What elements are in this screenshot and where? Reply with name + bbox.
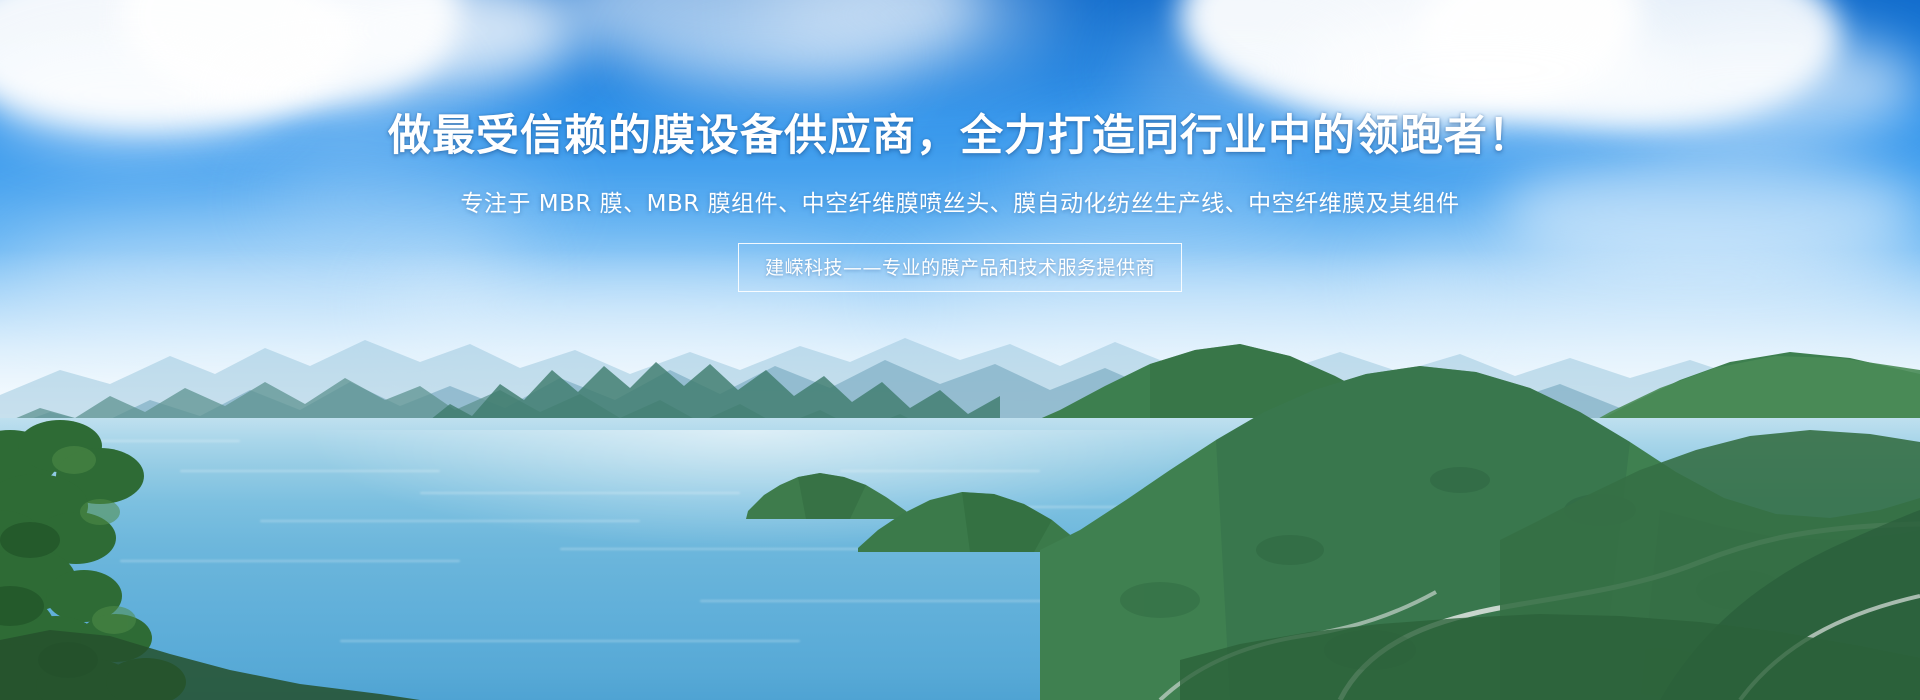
foreground-shore-left — [0, 600, 420, 700]
banner-tagline-wrapper: 建嵘科技——专业的膜产品和技术服务提供商 — [0, 243, 1920, 292]
banner-headline: 做最受信赖的膜设备供应商，全力打造同行业中的领跑者！ — [0, 101, 1920, 163]
banner-subline: 专注于 MBR 膜、MBR 膜组件、中空纤维膜喷丝头、膜自动化纺丝生产线、中空纤… — [0, 184, 1920, 218]
foreground-forest-bottom — [1180, 560, 1920, 700]
banner-tagline-box: 建嵘科技——专业的膜产品和技术服务提供商 — [738, 243, 1182, 292]
hero-banner: 做最受信赖的膜设备供应商，全力打造同行业中的领跑者！ 专注于 MBR 膜、MBR… — [0, 0, 1920, 700]
